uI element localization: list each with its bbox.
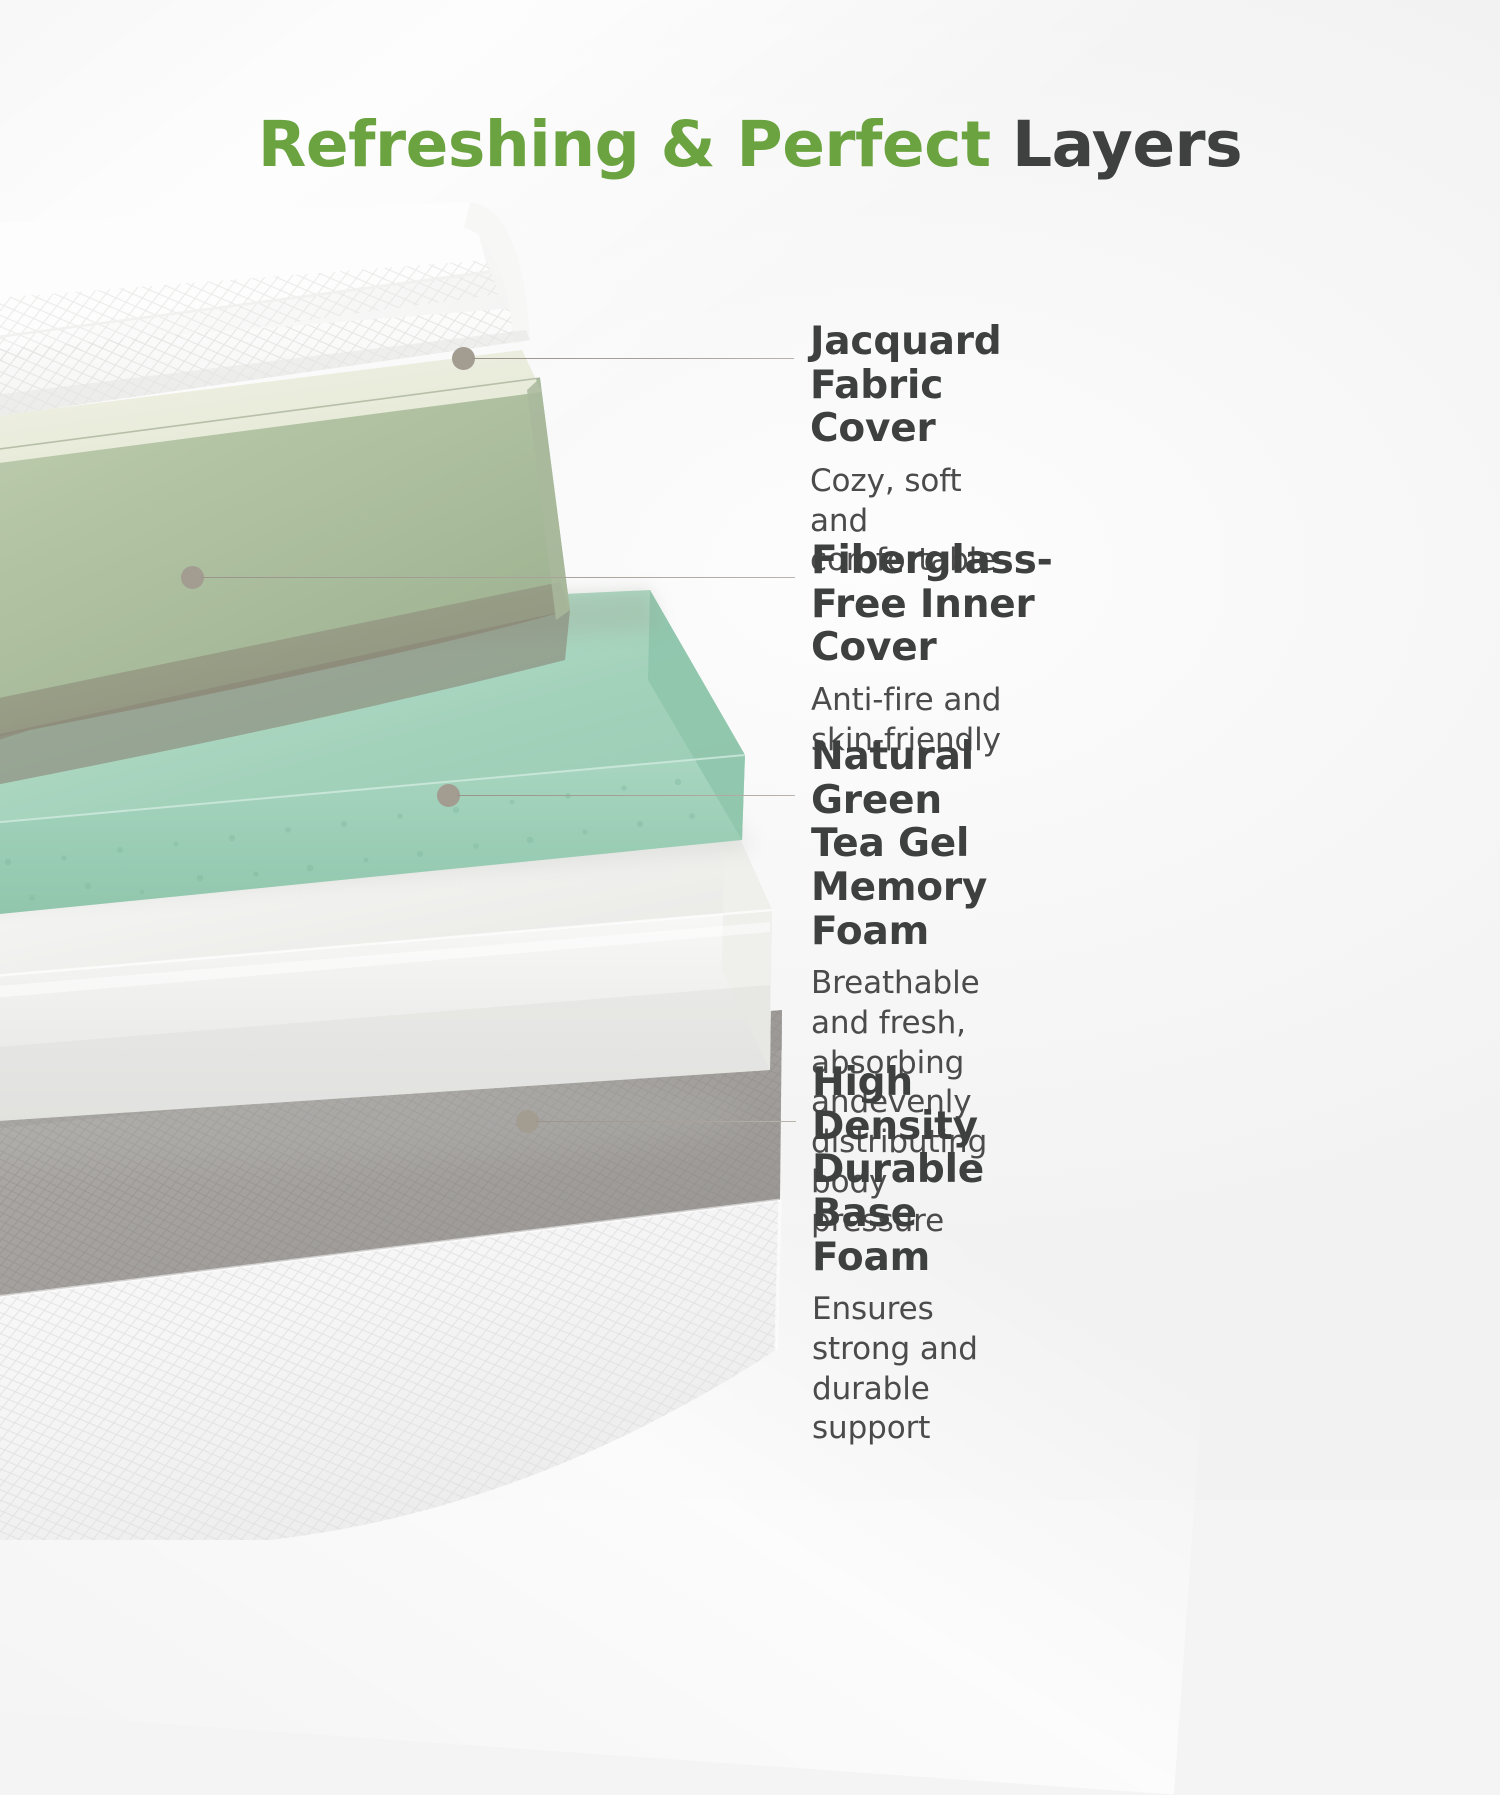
callout-leader-line — [472, 358, 794, 360]
callout-title: Fiberglass-Free Inner Cover — [811, 539, 1053, 670]
callout-text-block: Fiberglass-Free Inner Cover Anti-fire an… — [811, 539, 1053, 760]
callout-title: Natural Green Tea Gel Memory Foam — [811, 735, 987, 953]
callout-title: High Density Durable Base Foam — [812, 1061, 984, 1279]
callout-text-block: High Density Durable Base Foam Ensures s… — [812, 1061, 984, 1449]
page-title-highlight: Refreshing & Perfect — [258, 108, 1012, 181]
mattress-layers-illustration — [0, 210, 890, 1510]
infographic-canvas: Refreshing & Perfect Layers — [0, 0, 1500, 1500]
callout-leader-line — [457, 795, 795, 797]
callout-subtitle: Ensures strong and durable support — [812, 1290, 984, 1449]
page-title-rest: Layers — [1012, 108, 1242, 181]
callout-title: Jacquard Fabric Cover — [810, 320, 1002, 451]
callout-leader-line — [201, 577, 795, 579]
page-title: Refreshing & Perfect Layers — [0, 108, 1500, 181]
callout-leader-line — [536, 1121, 796, 1123]
